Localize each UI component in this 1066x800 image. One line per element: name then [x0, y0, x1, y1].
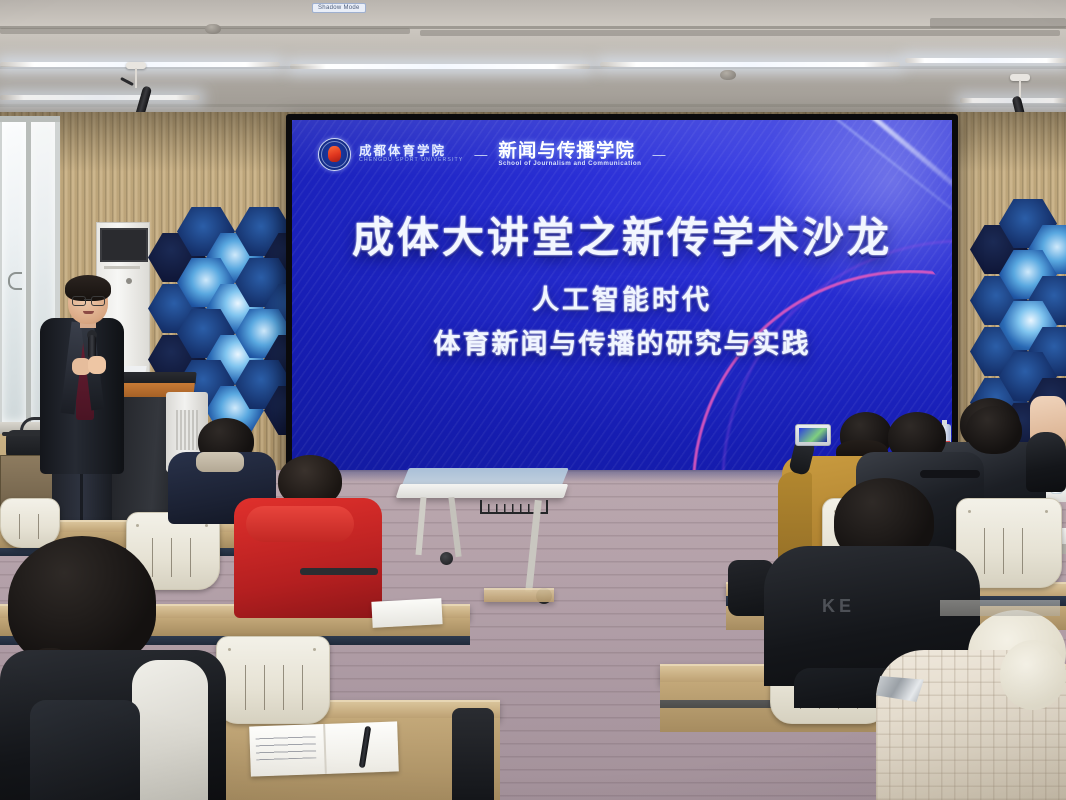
jacket-strap [920, 470, 980, 478]
ceiling-light-strip [290, 64, 590, 69]
ceiling-seam [0, 104, 1066, 107]
chair-leg-dark [452, 708, 494, 800]
school-name-cn: 新闻与传播学院 [498, 141, 641, 161]
university-name-en: CHENGDU SPORT UNIVERSITY [359, 158, 463, 163]
fleece-collar [1000, 640, 1066, 710]
audience-head-foreground [8, 536, 156, 668]
classroom-photo-scene: 成都体育学院 CHENGDU SPORT UNIVERSITY — 新闻与传播学… [0, 0, 1066, 800]
cabinet-knob[interactable] [126, 278, 132, 284]
slide-subtitle-line-2: 体育新闻与传播的研究与实践 [292, 322, 952, 361]
desk-edge [940, 600, 1060, 616]
audience-shoulder-highlight [132, 660, 208, 800]
chair[interactable] [0, 498, 58, 546]
presenter-mouth [83, 311, 94, 314]
ceiling-vent [930, 18, 1066, 28]
jacket-print-text: KE [822, 596, 942, 618]
ceiling-light-strip [905, 58, 1066, 63]
ceiling-speaker [720, 70, 736, 80]
audience-torso [1026, 432, 1066, 492]
ceiling-light-strip [0, 95, 200, 100]
display-osd-badge: Shadow Mode [312, 3, 366, 13]
university-emblem-icon [318, 138, 351, 171]
slide-header-logo-lockup: 成都体育学院 CHENGDU SPORT UNIVERSITY — 新闻与传播学… [318, 138, 668, 171]
wall-monitor [100, 228, 148, 262]
folding-table-caster-wheel [440, 552, 453, 565]
chair[interactable] [216, 636, 328, 722]
ceiling-speaker [205, 24, 221, 34]
audience-scarf [196, 452, 244, 472]
presenter-hand-right [88, 356, 106, 374]
window-handle[interactable] [8, 272, 22, 290]
desk-row [484, 588, 554, 602]
slide-subtitle-line-1: 人工智能时代 [292, 278, 952, 317]
audience-jacket-fold [30, 700, 140, 800]
audience-head [966, 406, 1022, 454]
microphone-cable [1019, 80, 1021, 98]
microphone-cable [135, 68, 137, 88]
cabinet-seam [104, 266, 140, 269]
ceiling-light-strip [600, 62, 900, 67]
jacket-hood [246, 506, 354, 542]
jacket-strap [300, 568, 378, 575]
header-trailing-dash: — [652, 147, 665, 162]
folding-table-top [396, 484, 569, 498]
open-notebook [249, 721, 399, 776]
slide-title-main: 成体大讲堂之新传学术沙龙 [292, 204, 952, 265]
header-dash: — [474, 147, 487, 162]
notebook [371, 598, 442, 628]
smartphone[interactable] [795, 424, 831, 446]
school-name-en: School of Journalism and Communication [498, 161, 641, 168]
eyeglasses-icon [72, 296, 104, 304]
ceiling-vent [420, 30, 1060, 36]
